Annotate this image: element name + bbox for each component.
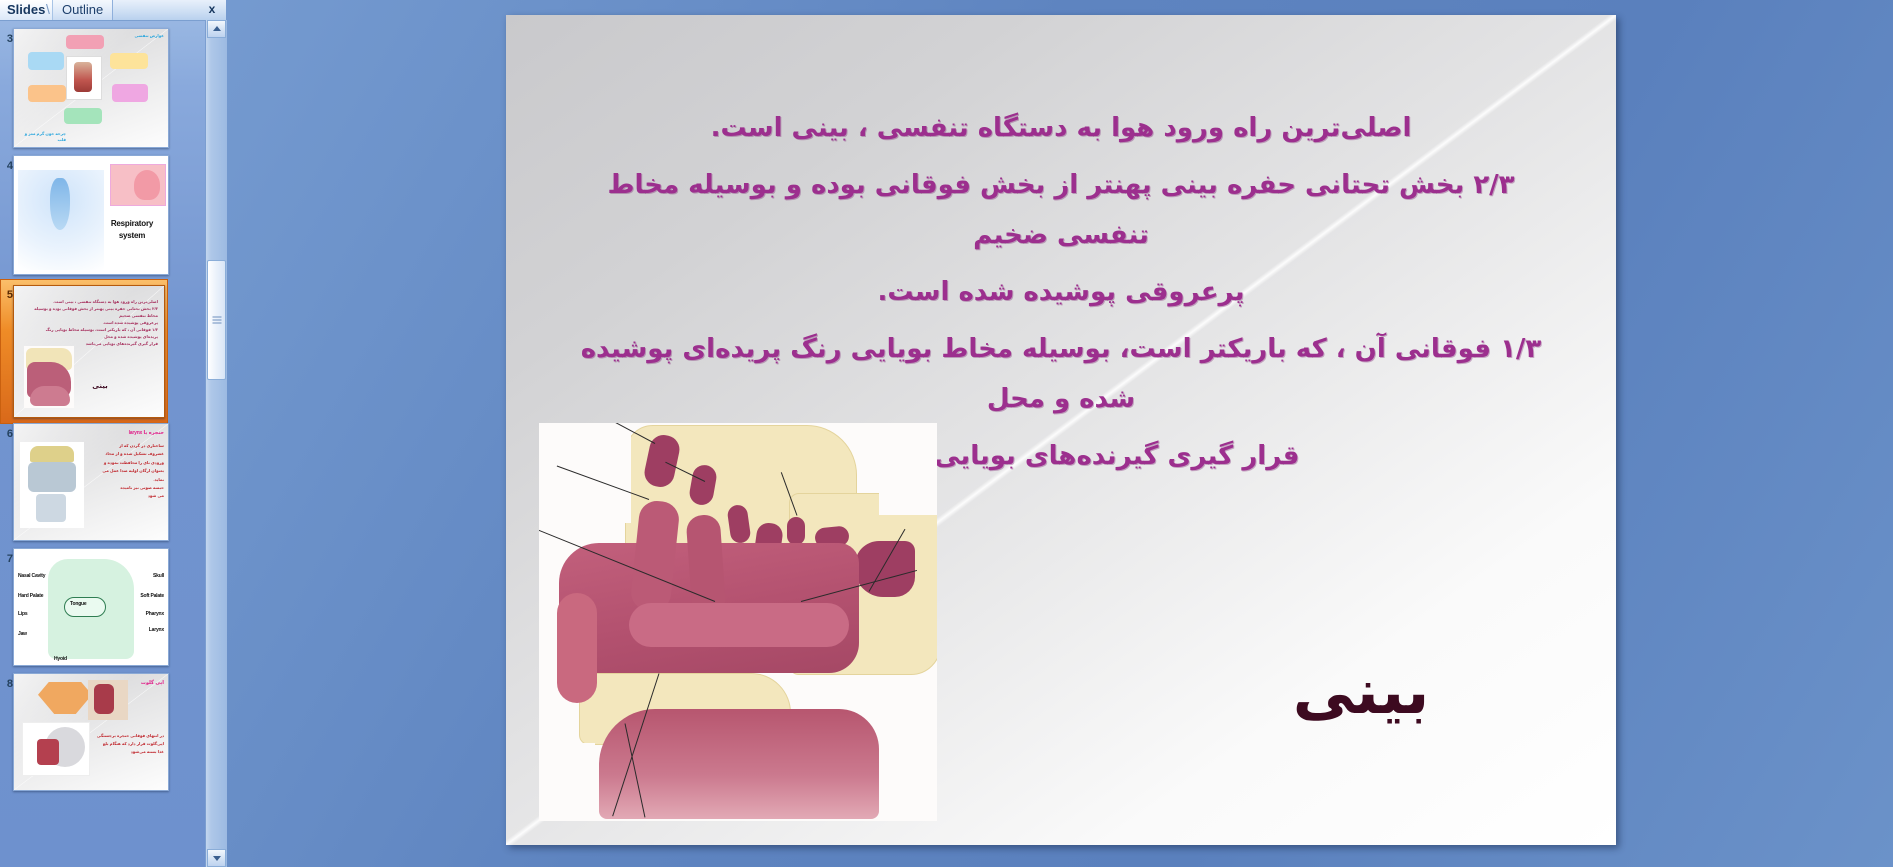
- mini-line-3: بعنوان ارگان اولیه صدا عمل می: [88, 467, 164, 475]
- tab-slides-label: Slides: [7, 2, 45, 17]
- body-line-4: ۱/۳ فوقانی آن ، که باریکتر است، بوسیله م…: [566, 324, 1556, 425]
- mini-label-tongue: Tongue: [70, 601, 86, 608]
- mini-line-0: در انتهای فوقانی حنجره برجستگی اپی‌گلوت …: [92, 732, 164, 748]
- mini-line-2: پرعروقی پوشیده شده است.: [30, 319, 158, 326]
- powerpoint-normal-view: Slides \ Outline x 3: [0, 0, 1893, 867]
- body-line-3: پرعروقی پوشیده شده است.: [566, 267, 1556, 318]
- mini-bottom-note: چرخه خون گرم مغز و قلب: [18, 131, 66, 143]
- slide-number: 5: [1, 289, 13, 301]
- mini-label-pharynx: Pharynx: [146, 611, 164, 618]
- mini-sagittal-photo: [88, 680, 128, 720]
- mini-body-text: در انتهای فوقانی حنجره برجستگی اپی‌گلوت …: [92, 732, 164, 756]
- close-icon[interactable]: x: [204, 1, 220, 17]
- grip-icon: [212, 317, 221, 324]
- mini-nose-image: [24, 346, 74, 408]
- mini-node-0: [66, 35, 104, 49]
- mini-label-skull: Skull: [153, 573, 164, 580]
- mini-line-1: ۲/۳ بخش تحتانی حفره بینی پهنتر از بخش فو…: [30, 305, 158, 319]
- body-line-1: اصلی‌ترین راه ورود هوا به دستگاه تنفسی ،…: [566, 103, 1556, 154]
- mini-node-1: [110, 53, 148, 69]
- mini-line-1: غذا بسته می‌شود: [92, 748, 164, 756]
- tab-outline-label: Outline: [62, 2, 103, 17]
- mini-head-art: [134, 170, 160, 200]
- mini-torso-art: [74, 62, 92, 92]
- thumbnail-item-5[interactable]: 5 اصلی‌ترین راه ورود هوا به دستگاه تنفسی…: [0, 279, 205, 427]
- slide-number: 4: [1, 160, 13, 172]
- chevron-up-icon: [213, 26, 221, 31]
- scrollbar-thumb[interactable]: [207, 260, 226, 380]
- mini-corner-note: عوارض تنفسی: [134, 33, 164, 39]
- thumbnail-item-4[interactable]: 4 Respiratory system: [0, 152, 205, 294]
- mini-line-2: ورودی نای را محافظت نموده و: [88, 459, 164, 467]
- nasal-cavity-illustration[interactable]: [539, 423, 937, 821]
- mini-node-5: [64, 108, 102, 124]
- mini-larynx-image: [20, 442, 84, 528]
- mini-node-3: [112, 84, 148, 102]
- thumbnail-item-7[interactable]: 7 Nasal Cavity Skull Hard Palate Soft Pa…: [0, 545, 205, 685]
- thumbnail-scrollbar[interactable]: [205, 20, 227, 867]
- mini-lung-art: [50, 178, 70, 230]
- chevron-down-icon: [213, 856, 221, 861]
- mini-label-hyoid: Hyoid: [54, 656, 67, 663]
- thumbnail-preview[interactable]: Nasal Cavity Skull Hard Palate Soft Pala…: [13, 548, 169, 666]
- scroll-up-button[interactable]: [207, 20, 226, 38]
- slide-number: 3: [1, 33, 13, 45]
- thumbnail-preview[interactable]: اپی گلوت در انتهای فوقانی حنجره برجستگی …: [13, 673, 169, 791]
- current-slide[interactable]: اصلی‌ترین راه ورود هوا به دستگاه تنفسی ،…: [506, 15, 1616, 845]
- thumbnail-item-3[interactable]: 3 عوارض تنفسی چرخه خون گرم مغز و قلب: [0, 25, 205, 167]
- slide-number: 8: [1, 678, 13, 690]
- thumbnail-preview[interactable]: حنجره یا larynx ساختاری در گردن که از غض…: [13, 423, 169, 541]
- mini-head-photo: [22, 722, 90, 776]
- mini-line-5: حبسه صوتی نیز نامیده: [88, 484, 164, 492]
- mini-label-soft-palate: Soft Palate: [140, 593, 164, 600]
- thumbnail-preview[interactable]: Respiratory system: [13, 155, 169, 275]
- mini-line-0: ساختاری در گردن که از: [88, 442, 164, 450]
- thumbnail-list[interactable]: 3 عوارض تنفسی چرخه خون گرم مغز و قلب: [0, 20, 205, 867]
- slide-number: 7: [1, 553, 13, 565]
- tab-outline[interactable]: Outline: [52, 0, 113, 20]
- panel-tab-bar: Slides \ Outline x: [0, 0, 226, 21]
- mini-title: Respiratory system: [102, 218, 162, 241]
- thumbnail-preview[interactable]: عوارض تنفسی چرخه خون گرم مغز و قلب: [13, 28, 169, 148]
- mini-line-0: اصلی‌ترین راه ورود هوا به دستگاه تنفسی ،…: [30, 298, 158, 305]
- thumbnail-item-6[interactable]: 6 حنجره یا larynx ساختاری در گردن که از …: [0, 420, 205, 560]
- mini-body-text: ساختاری در گردن که از غضروف تشکیل شده و …: [88, 442, 164, 501]
- mini-line-3: ۱/۳ فوقانی آن ، که باریکتر است، بوسیله م…: [30, 326, 158, 340]
- mini-caption: بینی: [80, 382, 120, 392]
- mini-line-4: نماید.: [88, 476, 164, 484]
- mini-node-2: [28, 52, 64, 70]
- thumbnail-preview[interactable]: اصلی‌ترین راه ورود هوا به دستگاه تنفسی ،…: [13, 285, 165, 418]
- mini-label-nasal-cavity: Nasal Cavity: [18, 573, 45, 580]
- mini-body-text: اصلی‌ترین راه ورود هوا به دستگاه تنفسی ،…: [30, 298, 158, 347]
- mini-label-hard-palate: Hard Palate: [18, 593, 43, 600]
- thumbnail-item-8[interactable]: 8 اپی گلوت در انتهای فوقانی حنجره برجستگ…: [0, 670, 205, 790]
- slide-stage: اصلی‌ترین راه ورود هوا به دستگاه تنفسی ،…: [226, 0, 1893, 867]
- slides-panel: Slides \ Outline x 3: [0, 0, 226, 867]
- mini-line-1: غضروف تشکیل شده و از محاذ: [88, 450, 164, 458]
- mini-node-4: [28, 85, 66, 102]
- body-line-2: ۲/۳ بخش تحتانی حفره بینی پهنتر از بخش فو…: [566, 160, 1556, 261]
- mini-heading: اپی گلوت: [141, 680, 164, 687]
- mini-label-jaw: Jaw: [18, 631, 27, 638]
- mini-heading: حنجره یا larynx: [129, 430, 164, 437]
- mini-label-lips: Lips: [18, 611, 27, 618]
- mini-line-6: می شود: [88, 492, 164, 500]
- slide-title-word[interactable]: بینی: [1196, 655, 1526, 728]
- mini-label-larynx: Larynx: [149, 627, 164, 634]
- slide-number: 6: [1, 428, 13, 440]
- scroll-down-button[interactable]: [207, 849, 226, 867]
